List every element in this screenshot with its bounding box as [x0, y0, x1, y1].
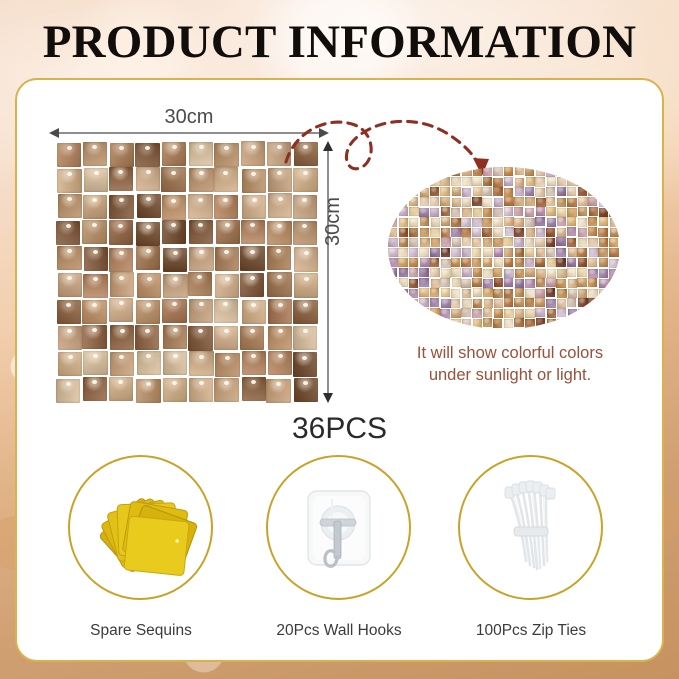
accessory-label-zip-ties: 100Pcs Zip Ties	[421, 622, 641, 640]
accessory-circle-wall-hooks	[266, 455, 411, 600]
height-dimension-label: 30cm	[322, 197, 345, 246]
accessory-circle-spare-sequins	[68, 455, 213, 600]
wall-hook-icon	[268, 457, 409, 598]
caption-line-1: It will show colorful colors	[417, 344, 603, 362]
caption-line-2: under sunlight or light.	[429, 366, 591, 384]
gold-sequins-icon	[70, 457, 211, 598]
accessory-circle-zip-ties	[458, 455, 603, 600]
accessory-label-spare-sequins: Spare Sequins	[31, 622, 251, 640]
sequin-closeup-oval	[388, 167, 620, 329]
quantity-label: 36PCS	[0, 412, 679, 446]
shimmer-caption: It will show colorful colors under sunli…	[370, 343, 650, 387]
zip-ties-icon	[460, 457, 601, 598]
accessory-label-wall-hooks: 20Pcs Wall Hooks	[229, 622, 449, 640]
page-title: PRODUCT INFORMATION	[0, 19, 679, 66]
